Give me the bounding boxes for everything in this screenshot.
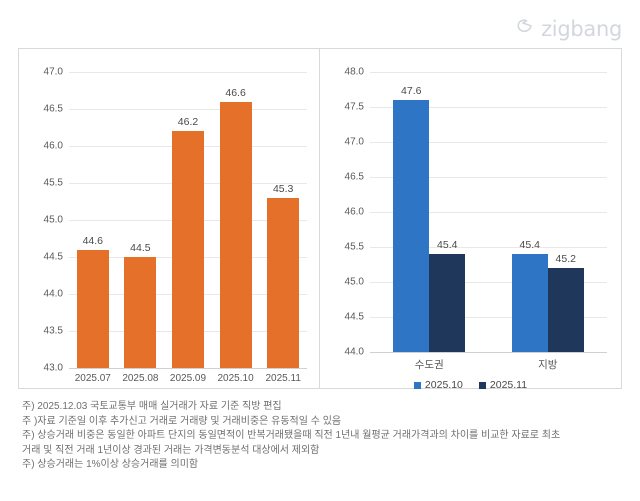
bar-value-label: 44.6 [83, 235, 103, 247]
footnotes: 주) 2025.12.03 국토교통부 매매 실거래가 자료 기준 직방 편집 … [22, 400, 622, 473]
y-tick: 46.5 [44, 104, 63, 115]
bar-sudogwon-2025-11[interactable]: 45.4 [429, 254, 465, 352]
charts-container: 47.0 46.5 46.0 45.5 45.0 44.5 44.0 43.5 … [0, 48, 640, 389]
footnote-line: 주) 상승거래는 1%이상 상승거래를 의미함 [22, 458, 622, 473]
y-tick: 45.5 [345, 242, 364, 253]
right-x-axis-labels: 수도권 지방 [370, 357, 607, 372]
bar-jibang-2025-11[interactable]: 45.2 [548, 268, 584, 352]
swoosh-icon [515, 17, 535, 42]
bar-2025-07[interactable]: 44.6 [77, 250, 109, 368]
legend-label: 2025.10 [425, 379, 463, 391]
bar-group: 47.6 45.4 [393, 72, 465, 352]
bar-slot: 44.5 [117, 72, 165, 368]
logo-wordmark: zigbang [541, 19, 622, 40]
y-tick: 44.5 [345, 312, 364, 323]
bar-slot: 46.6 [212, 72, 260, 368]
y-tick: 45.0 [44, 215, 63, 226]
bar-2025-09[interactable]: 46.2 [172, 131, 204, 368]
left-plot-area: 47.0 46.5 46.0 45.5 45.0 44.5 44.0 43.5 … [19, 49, 319, 388]
footnote-line: 거래 및 직전 거래 1년이상 경과된 거래는 가격변동분석 대상에서 제외함 [22, 444, 622, 459]
y-tick: 44.0 [345, 347, 364, 358]
y-tick: 43.5 [44, 326, 63, 337]
x-tick-label: 2025.09 [164, 373, 212, 384]
bar-sudogwon-2025-10[interactable]: 47.6 [393, 100, 429, 352]
bar-value-label: 45.3 [273, 183, 293, 195]
footnote-line: 주) 2025.12.03 국토교통부 매매 실거래가 자료 기준 직방 편집 [22, 400, 622, 415]
y-tick: 43.0 [44, 363, 63, 374]
right-y-axis: 48.0 47.5 47.0 46.5 46.0 45.5 45.0 44.5 … [326, 49, 364, 388]
legend-swatch-icon [414, 382, 421, 389]
right-plot-area: 48.0 47.5 47.0 46.5 46.0 45.5 45.0 44.5 … [320, 49, 621, 388]
bar-jibang-2025-10[interactable]: 45.4 [512, 254, 548, 352]
monthly-trend-chart-panel: 47.0 46.5 46.0 45.5 45.0 44.5 44.0 43.5 … [18, 48, 320, 389]
page-header: zigbang [0, 0, 640, 48]
right-bars: 47.6 45.4 45.4 45.2 [370, 72, 607, 352]
footnote-line: 주 )자료 기준일 이후 추가신고 거래로 거래량 및 거래비중은 유동적일 수… [22, 415, 622, 430]
y-tick: 45.0 [345, 277, 364, 288]
bar-slot: 46.2 [164, 72, 212, 368]
bar-slot-jibang: 45.4 45.2 [489, 72, 608, 352]
bar-group: 45.4 45.2 [512, 72, 584, 352]
x-tick-label: 2025.10 [212, 373, 260, 384]
region-comparison-chart-panel: 48.0 47.5 47.0 46.5 46.0 45.5 45.0 44.5 … [320, 48, 622, 389]
y-tick: 48.0 [345, 67, 364, 78]
bar-value-label: 44.5 [130, 242, 150, 254]
bar-2025-08[interactable]: 44.5 [124, 257, 156, 368]
bar-value-label: 45.4 [437, 239, 457, 251]
bar-slot-sudogwon: 47.6 45.4 [370, 72, 489, 352]
bar-slot: 45.3 [259, 72, 307, 368]
y-tick: 46.0 [44, 141, 63, 152]
bar-value-label: 46.2 [178, 116, 198, 128]
y-tick: 47.5 [345, 102, 364, 113]
y-tick: 46.5 [345, 172, 364, 183]
bar-value-label: 46.6 [225, 87, 245, 99]
bar-value-label: 45.4 [520, 239, 540, 251]
footnote-line: 주) 상승거래 비중은 동일한 아파트 단지의 동일면적이 반복거래됐을때 직전… [22, 429, 622, 444]
y-tick: 45.5 [44, 178, 63, 189]
bar-2025-11[interactable]: 45.3 [267, 198, 299, 368]
y-tick: 47.0 [44, 67, 63, 78]
x-tick-label: 2025.11 [259, 373, 307, 384]
bar-value-label: 45.2 [556, 253, 576, 265]
bar-2025-10[interactable]: 46.6 [220, 102, 252, 368]
x-tick-label: 2025.07 [69, 373, 117, 384]
bar-value-label: 47.6 [401, 85, 421, 97]
bar-slot: 44.6 [69, 72, 117, 368]
y-tick: 47.0 [345, 137, 364, 148]
y-tick: 46.0 [345, 207, 364, 218]
right-chart-legend: 2025.10 2025.11 [320, 379, 621, 391]
y-tick: 44.5 [44, 252, 63, 263]
x-tick-label-sudogwon: 수도권 [370, 357, 489, 372]
left-y-axis: 47.0 46.5 46.0 45.5 45.0 44.5 44.0 43.5 … [25, 49, 63, 388]
legend-item-2025-10[interactable]: 2025.10 [414, 379, 463, 391]
axis-baseline [69, 368, 307, 369]
x-tick-label-jibang: 지방 [489, 357, 608, 372]
legend-label: 2025.11 [490, 379, 527, 391]
y-tick: 44.0 [44, 289, 63, 300]
axis-baseline [370, 352, 607, 353]
legend-swatch-icon [479, 382, 486, 389]
x-tick-label: 2025.08 [117, 373, 165, 384]
zigbang-logo: zigbang [515, 17, 622, 42]
legend-item-2025-11[interactable]: 2025.11 [479, 379, 527, 391]
left-x-axis-labels: 2025.07 2025.08 2025.09 2025.10 2025.11 [69, 373, 307, 384]
left-bars: 44.6 44.5 46.2 46.6 [69, 72, 307, 368]
